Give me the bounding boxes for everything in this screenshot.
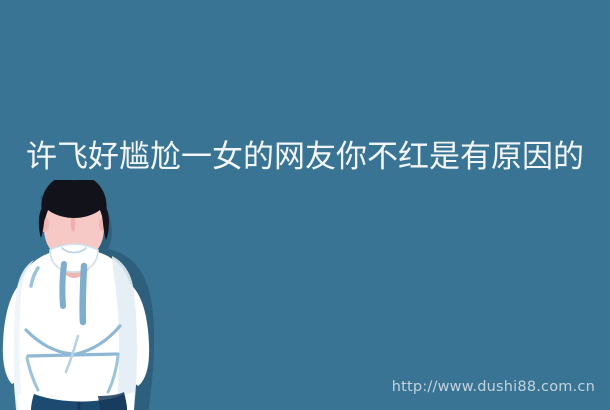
drawstring-left xyxy=(62,264,64,306)
person-illustration xyxy=(0,180,170,410)
drawstring-right xyxy=(83,266,84,322)
headline-text: 许飞好尴尬一女的网友你不红是有原因的 xyxy=(0,138,610,176)
watermark-url: http://www.dushi88.com.cn xyxy=(392,378,595,396)
image-canvas: 许飞好尴尬一女的网友你不红是有原因的 http://www.dushi88.co… xyxy=(0,0,610,410)
